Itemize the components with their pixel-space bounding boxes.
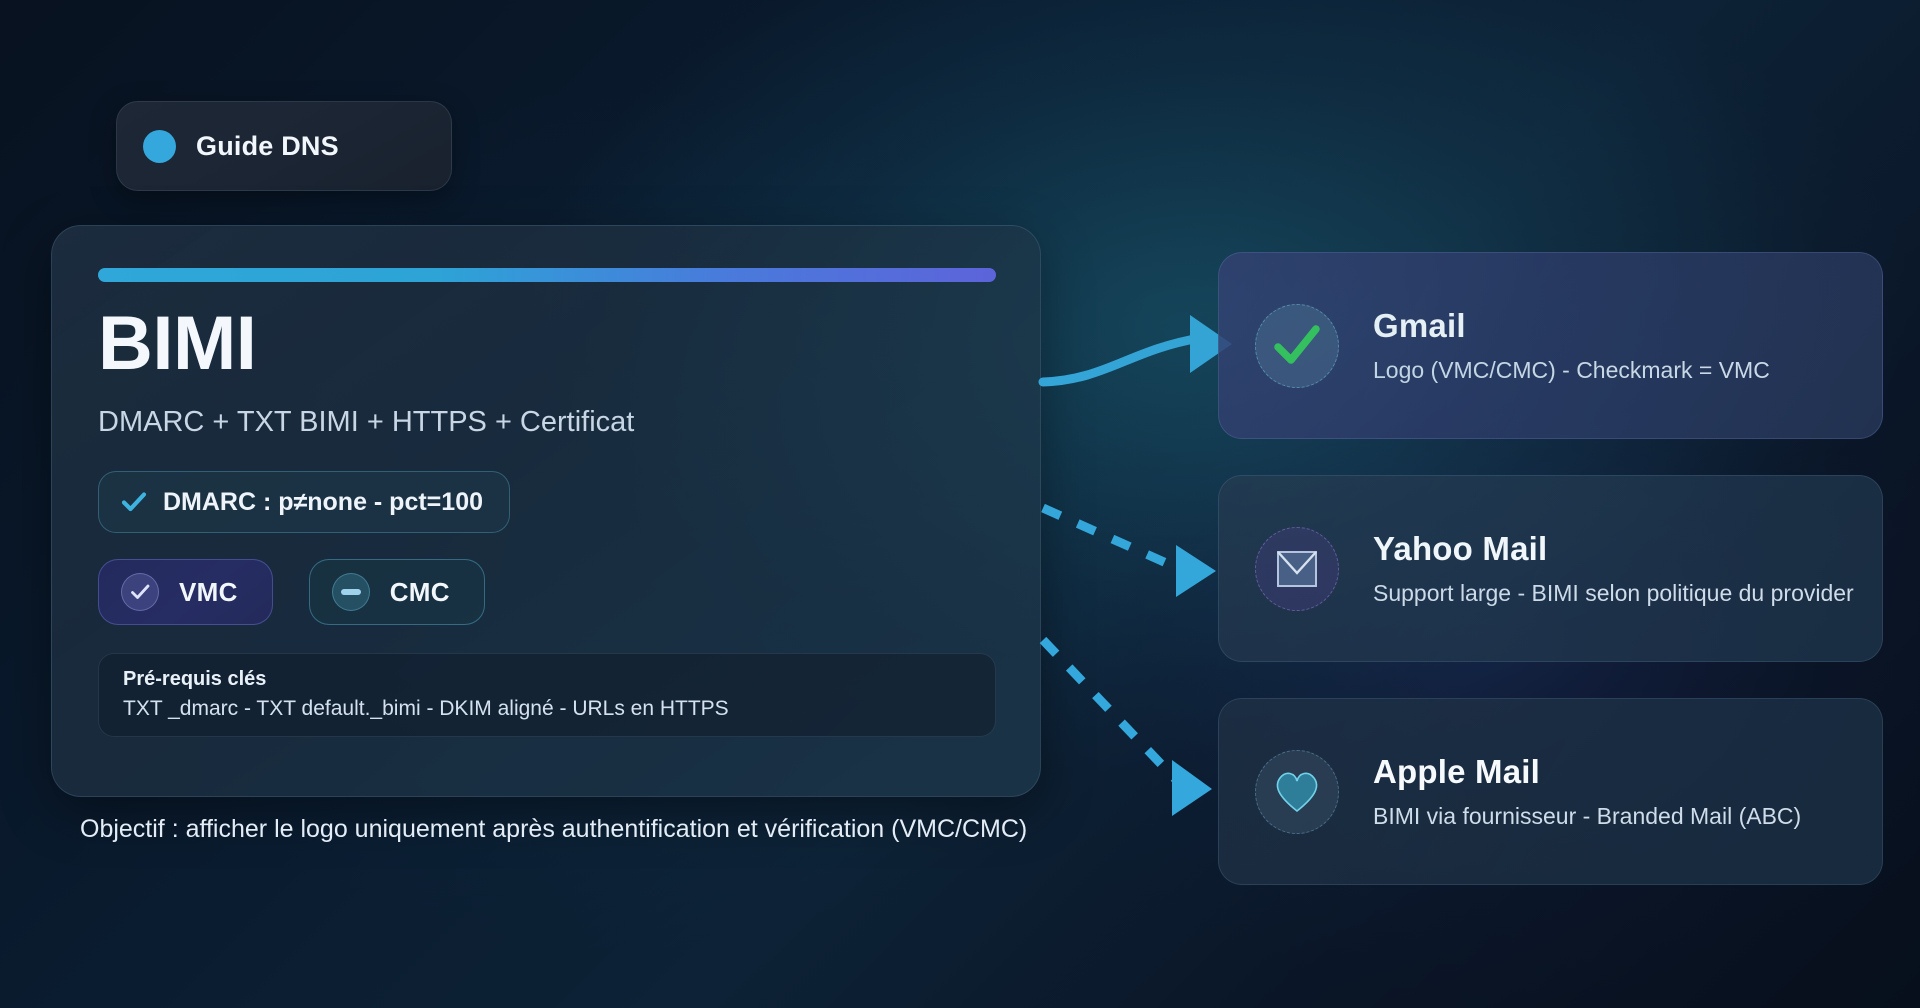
prerequisites-title: Pré-requis clés xyxy=(123,668,971,691)
circle-dot-icon xyxy=(143,130,176,163)
guide-dns-label: Guide DNS xyxy=(196,131,339,162)
provider-card-apple[interactable]: Apple Mail BIMI via fournisseur - Brande… xyxy=(1218,698,1883,885)
provider-desc-apple: BIMI via fournisseur - Branded Mail (ABC… xyxy=(1373,803,1801,830)
provider-name-apple: Apple Mail xyxy=(1373,753,1801,791)
provider-desc-yahoo: Support large - BIMI selon politique du … xyxy=(1373,580,1854,607)
certificate-label-cmc: CMC xyxy=(390,577,450,608)
bimi-main-card: BIMI DMARC + TXT BIMI + HTTPS + Certific… xyxy=(51,225,1041,797)
provider-name-gmail: Gmail xyxy=(1373,307,1770,345)
envelope-icon xyxy=(1255,527,1339,611)
prerequisites-body: TXT _dmarc - TXT default._bimi - DKIM al… xyxy=(123,697,971,721)
guide-dns-badge[interactable]: Guide DNS xyxy=(116,101,452,191)
green-check-icon xyxy=(1255,304,1339,388)
bimi-subtitle: DMARC + TXT BIMI + HTTPS + Certificat xyxy=(98,406,994,439)
connector-arrow-apple xyxy=(1043,640,1212,816)
dmarc-status-chip[interactable]: DMARC : p≠none - pct=100 xyxy=(98,471,510,533)
prerequisites-box: Pré-requis clés TXT _dmarc - TXT default… xyxy=(98,653,996,737)
heart-icon xyxy=(1255,750,1339,834)
connector-arrow-gmail xyxy=(1043,315,1232,382)
provider-name-yahoo: Yahoo Mail xyxy=(1373,530,1854,568)
provider-card-gmail[interactable]: Gmail Logo (VMC/CMC) - Checkmark = VMC xyxy=(1218,252,1883,439)
connector-arrow-yahoo xyxy=(1043,508,1216,597)
certificate-badge-vmc[interactable]: VMC xyxy=(98,559,273,625)
diagram-canvas: Guide DNS BIMI DMARC + TXT BIMI + HTTPS … xyxy=(0,0,1920,1008)
page-title: BIMI xyxy=(98,306,994,382)
minus-circle-icon xyxy=(332,573,370,611)
dmarc-chip-label: DMARC : p≠none - pct=100 xyxy=(163,488,483,517)
gradient-accent-bar xyxy=(98,268,996,282)
certificate-badges-row: VMC CMC xyxy=(98,559,994,625)
certificate-badge-cmc[interactable]: CMC xyxy=(309,559,485,625)
objective-caption: Objectif : afficher le logo uniquement a… xyxy=(80,815,1027,844)
certificate-label-vmc: VMC xyxy=(179,577,238,608)
provider-card-yahoo[interactable]: Yahoo Mail Support large - BIMI selon po… xyxy=(1218,475,1883,662)
provider-desc-gmail: Logo (VMC/CMC) - Checkmark = VMC xyxy=(1373,357,1770,384)
check-icon xyxy=(121,489,147,515)
check-circle-icon xyxy=(121,573,159,611)
